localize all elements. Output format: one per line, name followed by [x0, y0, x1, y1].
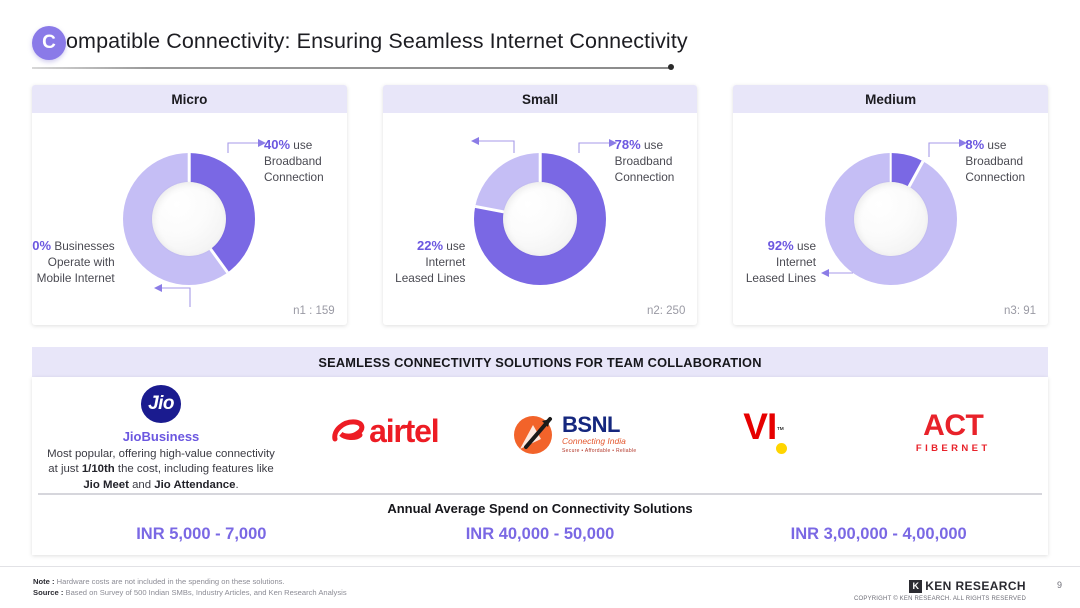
provider-bsnl[interactable]: BSNL Connecting India Secure • Affordabl… — [480, 377, 670, 493]
donut-label-rest: use — [290, 138, 312, 152]
vi-dot-icon — [776, 443, 787, 454]
source-line: Source : Based on Survey of 500 Indian S… — [33, 587, 347, 598]
provider-logo-row: Jio JioBusiness Most popular, offering h… — [32, 377, 1048, 493]
footnote-block: Note : Hardware costs are not included i… — [33, 576, 347, 598]
solutions-band-title: SEAMLESS CONNECTIVITY SOLUTIONS FOR TEAM… — [32, 347, 1048, 377]
jio-desc-line1: Most popular, offering high-value connec… — [47, 448, 275, 460]
provider-vi[interactable]: VI™ — [669, 377, 859, 493]
bsnl-value-strip: Secure • Affordable • Reliable — [562, 448, 636, 454]
bsnl-globe-arrow-icon — [512, 411, 558, 457]
title-badge-icon: C — [32, 26, 66, 60]
provider-jio[interactable]: Jio JioBusiness Most popular, offering h… — [32, 377, 290, 493]
donut-label-rest: use — [984, 138, 1006, 152]
spend-value: INR 5,000 - 7,000 — [32, 525, 371, 544]
donut-card: Small78% useBroadbandConnection22% useIn… — [383, 85, 698, 325]
sample-size-note: n3: 91 — [1004, 305, 1036, 317]
bsnl-logo-icon: BSNL Connecting India Secure • Affordabl… — [512, 411, 636, 457]
donut-chart — [123, 153, 255, 285]
brand-logo: K KEN RESEARCH COPYRIGHT © KEN RESEARCH.… — [854, 576, 1026, 602]
airtel-logo-icon: airtel — [331, 413, 438, 450]
donut-ring — [474, 153, 606, 285]
donut-label-line3: Connection — [264, 170, 324, 184]
vi-trademark: ™ — [776, 426, 784, 435]
jio-desc-period: . — [235, 479, 238, 491]
donut-card-title: Medium — [733, 85, 1048, 113]
act-wordmark: ACT — [923, 411, 983, 441]
jio-feature-attendance: Jio Attendance — [154, 479, 235, 491]
donut-label-line3: Connection — [965, 170, 1025, 184]
donut-card-group: Micro40% useBroadbandConnection60% Busin… — [32, 85, 1048, 325]
donut-card-body: 40% useBroadbandConnection60% Businesses… — [32, 113, 347, 325]
donut-label-pct: 92% — [768, 238, 794, 253]
donut-label-pct: 60% — [32, 238, 51, 253]
donut-chart — [474, 153, 606, 285]
bsnl-wordmark: BSNL — [562, 414, 620, 436]
donut-label-line2: Broadband — [615, 154, 673, 168]
title-underline — [32, 67, 672, 69]
donut-label-line3: Mobile Internet — [37, 271, 115, 285]
note-line: Note : Hardware costs are not included i… — [33, 576, 347, 587]
donut-label: 60% BusinessesOperate withMobile Interne… — [32, 238, 115, 286]
solutions-panel: Jio JioBusiness Most popular, offering h… — [32, 377, 1048, 555]
donut-label: 92% useInternetLeased Lines — [733, 238, 816, 286]
spend-value: INR 3,00,000 - 4,00,000 — [709, 525, 1048, 544]
airtel-wordmark: airtel — [369, 413, 438, 450]
donut-center-hole — [152, 182, 226, 256]
page-number: 9 — [1057, 580, 1062, 590]
donut-label-line3: Leased Lines — [395, 271, 465, 285]
act-logo-icon: ACT FIBERNET — [916, 411, 991, 454]
donut-label: 8% useBroadbandConnection — [965, 137, 1048, 185]
jio-logo-icon: Jio — [141, 385, 181, 423]
brand-name: KEN RESEARCH — [925, 579, 1026, 593]
donut-label-line2: Internet — [776, 255, 816, 269]
donut-label: 40% useBroadbandConnection — [264, 137, 347, 185]
donut-card-body: 8% useBroadbandConnection92% useInternet… — [733, 113, 1048, 325]
donut-label-rest: Businesses — [51, 239, 115, 253]
donut-card-body: 78% useBroadbandConnection22% useInterne… — [383, 113, 698, 325]
jio-desc-highlight: 1/10th — [82, 463, 115, 475]
sample-size-note: n1 : 159 — [293, 305, 335, 317]
donut-card: Micro40% useBroadbandConnection60% Busin… — [32, 85, 347, 325]
donut-label-pct: 78% — [615, 137, 641, 152]
jio-feature-meet: Jio Meet — [83, 479, 129, 491]
spend-row: INR 5,000 - 7,000INR 40,000 - 50,000INR … — [32, 525, 1048, 544]
donut-label-rest: use — [641, 138, 663, 152]
donut-label-line2: Operate with — [48, 255, 115, 269]
provider-act[interactable]: ACT FIBERNET — [859, 377, 1049, 493]
airtel-swoosh-icon — [331, 417, 365, 447]
donut-label-line2: Broadband — [264, 154, 322, 168]
spend-title: Annual Average Spend on Connectivity Sol… — [32, 501, 1048, 516]
source-text: Based on Survey of 500 Indian SMBs, Indu… — [63, 588, 346, 597]
donut-label-line2: Internet — [425, 255, 465, 269]
donut-label-pct: 8% — [965, 137, 984, 152]
bsnl-text-block: BSNL Connecting India Secure • Affordabl… — [562, 414, 636, 454]
jio-desc-and: and — [129, 479, 154, 491]
copyright-text: COPYRIGHT © KEN RESEARCH. ALL RIGHTS RES… — [854, 596, 1026, 602]
donut-center-hole — [854, 182, 928, 256]
solutions-divider — [38, 493, 1042, 495]
footer-divider — [0, 566, 1080, 567]
page-title: ompatible Connectivity: Ensuring Seamles… — [66, 29, 688, 54]
donut-chart — [825, 153, 957, 285]
title-end-dot-icon — [668, 64, 674, 70]
brand-mark-row: K KEN RESEARCH — [909, 579, 1026, 593]
donut-center-hole — [503, 182, 577, 256]
vi-wordmark: VI — [743, 406, 776, 447]
slide-root: C ompatible Connectivity: Ensuring Seaml… — [0, 0, 1080, 608]
donut-label: 78% useBroadbandConnection — [615, 137, 698, 185]
donut-label-line2: Broadband — [965, 154, 1023, 168]
sample-size-note: n2: 250 — [647, 305, 685, 317]
spend-value: INR 40,000 - 50,000 — [371, 525, 710, 544]
ken-research-mark-icon: K — [909, 580, 922, 593]
donut-ring — [825, 153, 957, 285]
donut-label-pct: 40% — [264, 137, 290, 152]
jio-name: JioBusiness — [123, 429, 200, 444]
note-label: Note : — [33, 577, 55, 586]
donut-ring — [123, 153, 255, 285]
source-label: Source : — [33, 588, 63, 597]
donut-label-rest: use — [443, 239, 465, 253]
note-text: Hardware costs are not included in the s… — [55, 577, 285, 586]
donut-card: Medium8% useBroadbandConnection92% useIn… — [733, 85, 1048, 325]
jio-desc-line2a: at just — [48, 463, 82, 475]
slide-header: C ompatible Connectivity: Ensuring Seaml… — [32, 26, 1048, 72]
donut-card-title: Micro — [32, 85, 347, 113]
donut-label-line3: Leased Lines — [746, 271, 816, 285]
donut-label-line3: Connection — [615, 170, 675, 184]
jio-desc-line2c: the cost, including features like — [115, 463, 274, 475]
provider-airtel[interactable]: airtel — [290, 377, 480, 493]
jio-description: Most popular, offering high-value connec… — [32, 447, 290, 494]
donut-card-title: Small — [383, 85, 698, 113]
vi-logo-icon: VI™ — [743, 409, 784, 445]
act-subtitle: FIBERNET — [916, 443, 991, 454]
donut-label: 22% useInternetLeased Lines — [383, 238, 466, 286]
donut-label-pct: 22% — [417, 238, 443, 253]
bsnl-tagline: Connecting India — [562, 436, 626, 446]
donut-label-rest: use — [794, 239, 816, 253]
